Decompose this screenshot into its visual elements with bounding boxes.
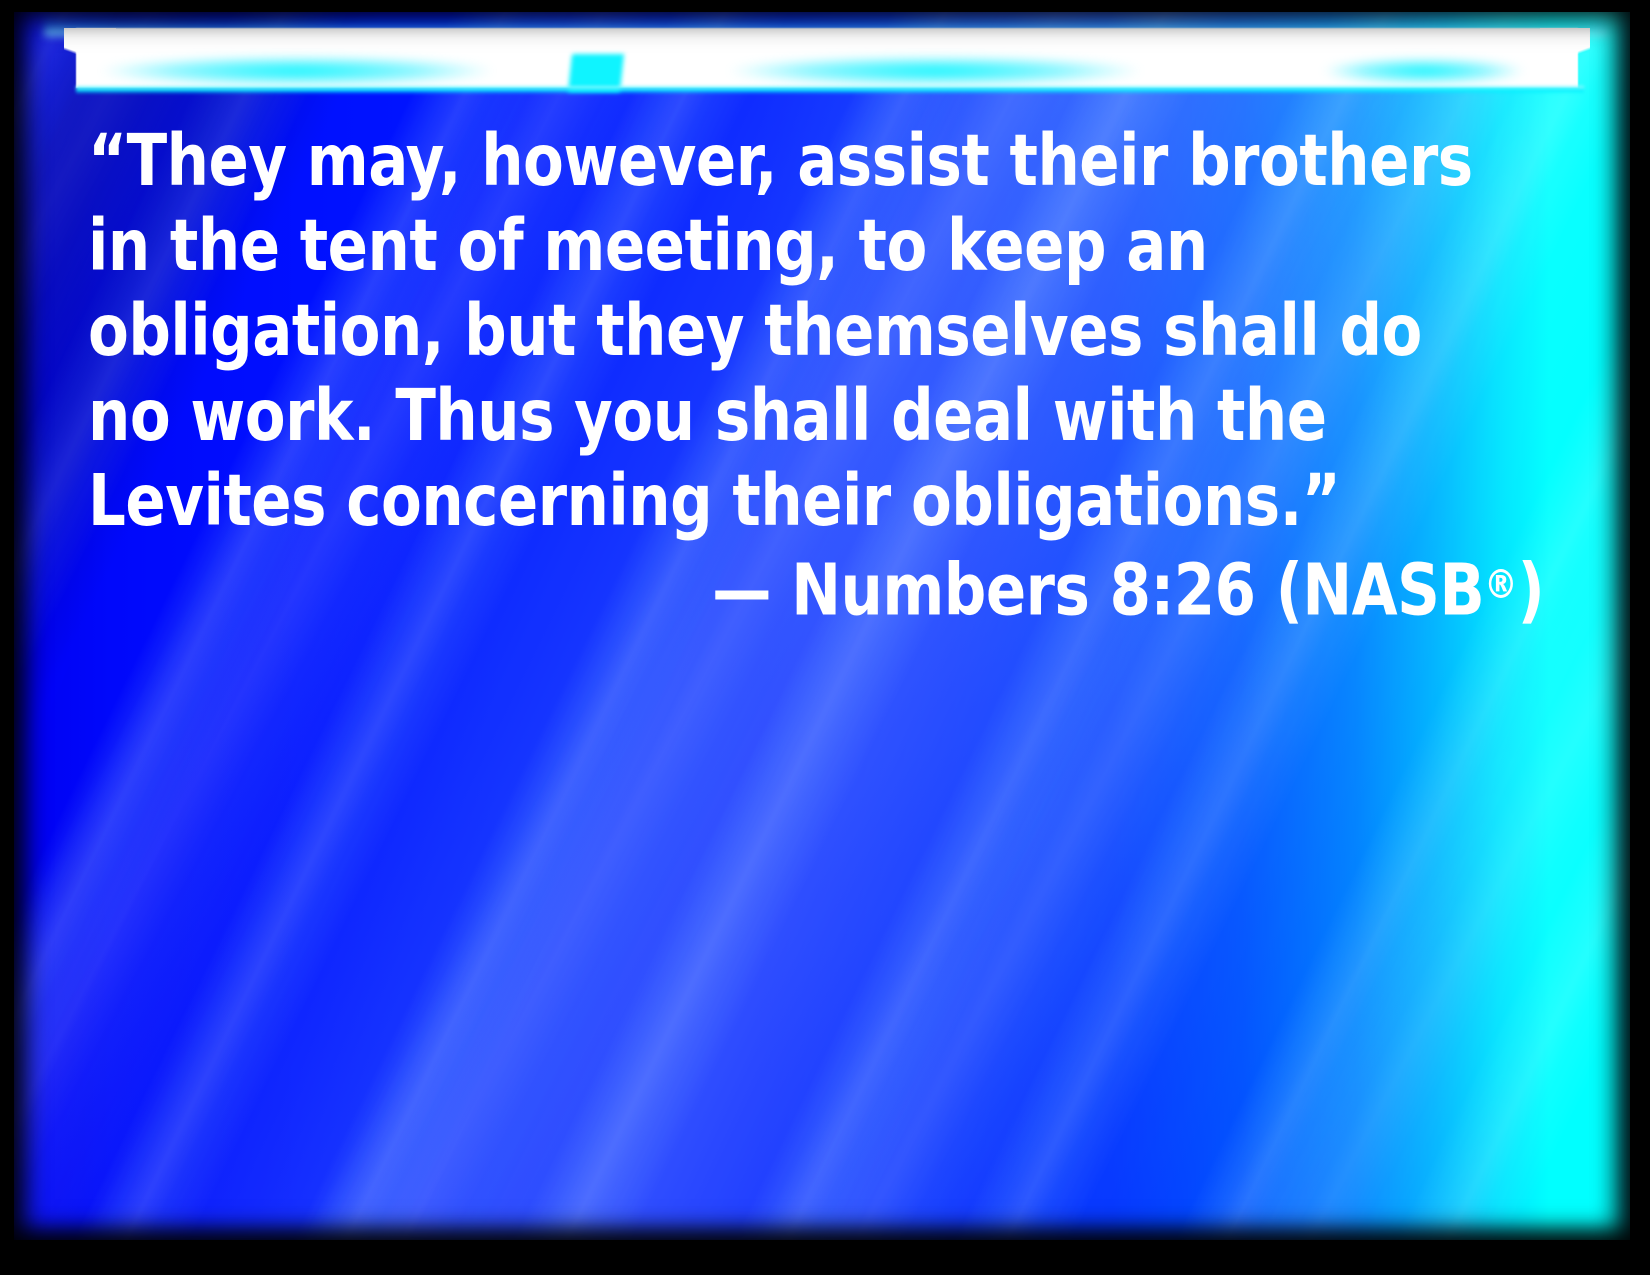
- verse-line-2: in the tent of meeting, to keep an: [88, 203, 1446, 288]
- slide-root: “They may, however, assist their brother…: [0, 0, 1650, 1275]
- attribution-suffix: ): [1518, 549, 1545, 632]
- verse-line-3: obligation, but they themselves shall do: [88, 288, 1446, 373]
- attribution-prefix: — Numbers 8:26 (NASB: [712, 549, 1484, 632]
- verse-artwork-canvas: “They may, however, assist their brother…: [14, 12, 1630, 1240]
- registered-trademark-icon: ®: [1484, 562, 1517, 608]
- verse-line-1: “They may, however, assist their brother…: [88, 118, 1446, 203]
- verse-text-block: “They may, however, assist their brother…: [88, 118, 1548, 633]
- verse-line-4: no work. Thus you shall deal with the: [88, 373, 1446, 458]
- verse-line-5: Levites concerning their obligations.”: [88, 458, 1446, 543]
- verse-attribution: — Numbers 8:26 (NASB®): [190, 543, 1548, 633]
